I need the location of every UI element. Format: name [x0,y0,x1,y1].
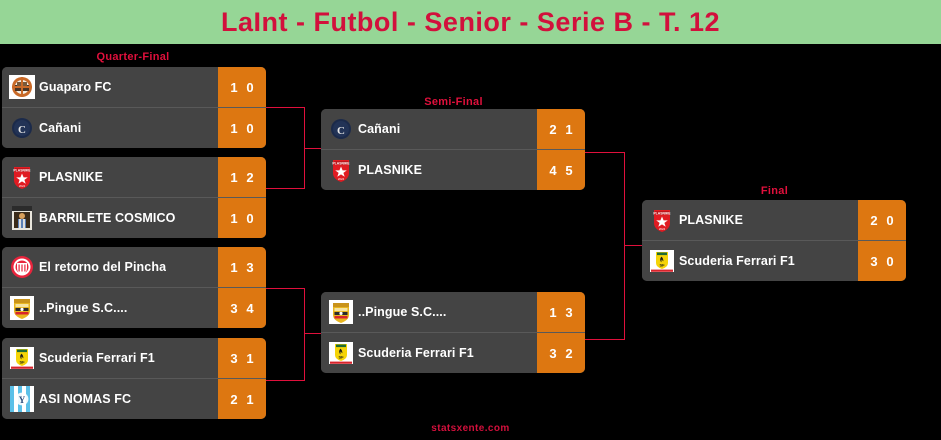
score-leg-1: 1 [230,170,237,185]
team-name: ASI NOMAS FC [39,392,131,406]
svg-text:PLASNIKE: PLASNIKE [653,212,671,216]
pingue-sc-logo [327,298,355,326]
guaparo-fc-logo [8,73,36,101]
score-leg-1: 3 [870,254,877,269]
team-cell: PLASNIKE 2024 PLASNIKE [2,157,218,197]
table-row[interactable]: ..Pingue S.C.... 1 3 [321,292,585,332]
team-name: Scuderia Ferrari F1 [39,351,155,365]
score-leg-2: 0 [246,121,253,136]
tournament-bracket-page: LaInt - Futbol - Senior - Serie B - T. 1… [0,0,941,440]
score-cell: 3 0 [858,241,906,281]
team-name: PLASNIKE [39,170,103,184]
table-row[interactable]: BARRILETE COSMICO 1 0 [2,197,266,238]
team-cell: ..Pingue S.C.... [2,288,218,328]
score-leg-1: 3 [230,351,237,366]
score-leg-2: 0 [246,80,253,95]
score-leg-2: 4 [246,301,253,316]
table-row[interactable]: PLASNIKE 2024 PLASNIKE 4 5 [321,149,585,190]
svg-text:2024: 2024 [19,184,26,188]
team-cell: Y ASI NOMAS FC [2,379,218,419]
team-name: ..Pingue S.C.... [358,305,446,319]
scuderia-ferrari-f1-logo: SF [648,247,676,275]
connector-qf2-horizontal [265,188,305,189]
score-cell: 1 3 [537,292,585,332]
svg-text:SF: SF [19,360,25,365]
match-final[interactable]: PLASNIKE 2024 PLASNIKE 2 0 [642,200,906,281]
score-leg-2: 2 [246,170,253,185]
score-leg-2: 5 [565,163,572,178]
el-retorno-del-pincha-logo [8,253,36,281]
team-cell: SF Scuderia Ferrari F1 [642,241,858,281]
connector-qf4-horizontal [265,380,305,381]
team-cell: El retorno del Pincha [2,247,218,287]
score-leg-2: 3 [565,305,572,320]
svg-text:SF: SF [338,355,344,360]
table-row[interactable]: PLASNIKE 2024 PLASNIKE 2 0 [642,200,906,240]
team-name: El retorno del Pincha [39,260,166,274]
table-row[interactable]: SF Scuderia Ferrari F1 3 2 [321,332,585,373]
svg-text:PLASNIKE: PLASNIKE [13,169,31,173]
score-cell: 2 1 [537,109,585,149]
score-leg-1: 1 [230,260,237,275]
connector-qf3-qf4-vertical [304,288,305,380]
score-leg-2: 1 [246,392,253,407]
match-quarter-final-4[interactable]: SF Scuderia Ferrari F1 3 1 [2,338,266,419]
score-leg-2: 0 [886,254,893,269]
score-cell: 2 1 [218,379,266,419]
score-leg-1: 1 [549,305,556,320]
table-row[interactable]: C Cañani 1 0 [2,107,266,148]
table-row[interactable]: Guaparo FC 1 0 [2,67,266,107]
score-leg-2: 1 [246,351,253,366]
score-cell: 3 2 [537,333,585,373]
svg-text:C: C [337,125,345,137]
score-leg-2: 2 [565,346,572,361]
plasnike-logo: PLASNIKE 2024 [648,206,676,234]
pingue-sc-logo [8,294,36,322]
team-cell: C Cañani [321,109,537,149]
svg-text:SF: SF [659,263,665,268]
team-name: PLASNIKE [679,213,743,227]
plasnike-logo: PLASNIKE 2024 [327,156,355,184]
score-cell: 4 5 [537,150,585,190]
score-leg-1: 2 [230,392,237,407]
round-label-final: Final [642,185,907,197]
team-name: Cañani [358,122,400,136]
connector-qf3-horizontal [265,288,305,289]
round-label-semi-final: Semi-Final [321,96,586,108]
table-row[interactable]: ..Pingue S.C.... 3 4 [2,287,266,328]
barrilete-cosmico-logo [8,204,36,232]
svg-text:2024: 2024 [659,227,666,231]
team-name: ..Pingue S.C.... [39,301,127,315]
team-cell: PLASNIKE 2024 PLASNIKE [321,150,537,190]
connector-sf1-out-horizontal [585,152,625,153]
score-leg-1: 3 [549,346,556,361]
score-leg-2: 0 [246,211,253,226]
team-name: BARRILETE COSMICO [39,211,175,225]
match-semi-final-1[interactable]: C Cañani 2 1 PLASNIKE 2024 [321,109,585,190]
svg-text:Y: Y [19,395,26,405]
scuderia-ferrari-f1-logo: SF [8,344,36,372]
team-name: Guaparo FC [39,80,112,94]
asi-nomas-fc-logo: Y [8,385,36,413]
connector-final-feed [624,245,642,246]
score-cell: 1 0 [218,67,266,107]
team-name: PLASNIKE [358,163,422,177]
connector-sf1-feed [304,148,322,149]
score-cell: 2 0 [858,200,906,240]
team-cell: Guaparo FC [2,67,218,107]
match-quarter-final-3[interactable]: El retorno del Pincha 1 3 [2,247,266,328]
score-leg-2: 3 [246,260,253,275]
scuderia-ferrari-f1-logo: SF [327,339,355,367]
match-quarter-final-2[interactable]: PLASNIKE 2024 PLASNIKE 1 2 [2,157,266,238]
team-name: Scuderia Ferrari F1 [679,254,795,268]
score-cell: 1 2 [218,157,266,197]
svg-text:PLASNIKE: PLASNIKE [332,162,350,166]
table-row[interactable]: El retorno del Pincha 1 3 [2,247,266,287]
connector-sf2-feed [304,333,322,334]
score-leg-2: 0 [886,213,893,228]
table-row[interactable]: PLASNIKE 2024 PLASNIKE 1 2 [2,157,266,197]
table-row[interactable]: C Cañani 2 1 [321,109,585,149]
score-leg-1: 2 [870,213,877,228]
team-cell: SF Scuderia Ferrari F1 [321,333,537,373]
team-cell: C Cañani [2,108,218,148]
team-cell: PLASNIKE 2024 PLASNIKE [642,200,858,240]
score-leg-1: 4 [549,163,556,178]
score-leg-1: 1 [230,211,237,226]
team-name: Scuderia Ferrari F1 [358,346,474,360]
match-semi-final-2[interactable]: ..Pingue S.C.... 1 3 SF [321,292,585,373]
match-quarter-final-1[interactable]: Guaparo FC 1 0 C Cañani 1 0 [2,67,266,148]
score-cell: 1 3 [218,247,266,287]
connector-qf1-horizontal [265,107,305,108]
team-cell: ..Pingue S.C.... [321,292,537,332]
page-title: LaInt - Futbol - Senior - Serie B - T. 1… [0,0,941,44]
plasnike-logo: PLASNIKE 2024 [8,163,36,191]
score-leg-1: 1 [230,80,237,95]
team-cell: SF Scuderia Ferrari F1 [2,338,218,378]
score-leg-2: 1 [565,122,572,137]
canani-logo: C [8,114,36,142]
score-leg-1: 3 [230,301,237,316]
team-name: Cañani [39,121,81,135]
score-cell: 3 4 [218,288,266,328]
svg-text:2024: 2024 [338,177,345,181]
table-row[interactable]: SF Scuderia Ferrari F1 3 0 [642,240,906,281]
table-row[interactable]: SF Scuderia Ferrari F1 3 1 [2,338,266,378]
canani-logo: C [327,115,355,143]
team-cell: BARRILETE COSMICO [2,198,218,238]
score-leg-1: 1 [230,121,237,136]
score-leg-1: 2 [549,122,556,137]
score-cell: 1 0 [218,108,266,148]
score-cell: 3 1 [218,338,266,378]
score-cell: 1 0 [218,198,266,238]
watermark: statsxente.com [0,423,941,434]
table-row[interactable]: Y ASI NOMAS FC 2 1 [2,378,266,419]
connector-sf2-out-horizontal [585,339,625,340]
svg-text:C: C [18,124,26,136]
round-label-quarter-final: Quarter-Final [0,51,266,63]
